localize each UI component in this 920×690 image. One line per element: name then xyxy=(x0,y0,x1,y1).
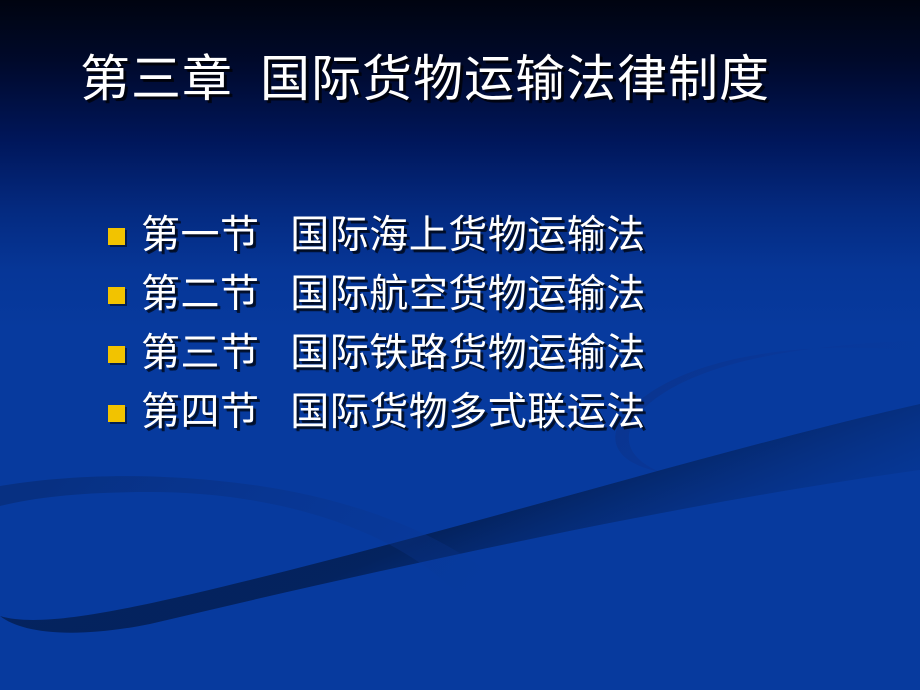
square-bullet-icon xyxy=(108,228,125,245)
square-bullet-icon xyxy=(108,405,125,422)
list-item[interactable]: 第四节 国际货物多式联运法 xyxy=(108,389,868,448)
swoosh-thin xyxy=(190,480,920,690)
list-item-label: 第一节 国际海上货物运输法 xyxy=(141,212,868,260)
list-item[interactable]: 第二节 国际航空货物运输法 xyxy=(108,271,868,330)
list-item[interactable]: 第三节 国际铁路货物运输法 xyxy=(108,330,868,389)
list-item-label: 第二节 国际航空货物运输法 xyxy=(141,271,868,319)
square-bullet-icon xyxy=(108,287,125,304)
swoosh-lower xyxy=(0,476,553,690)
presentation-slide: 第三章 国际货物运输法律制度 第一节 国际海上货物运输法 第二节 国际航空货物运… xyxy=(0,0,920,690)
square-bullet-icon xyxy=(108,346,125,363)
list-item-label: 第三节 国际铁路货物运输法 xyxy=(141,330,868,378)
bullet-list: 第一节 国际海上货物运输法 第二节 国际航空货物运输法 第三节 国际铁路货物运输… xyxy=(108,212,868,448)
list-item-label: 第四节 国际货物多式联运法 xyxy=(141,389,868,437)
list-item[interactable]: 第一节 国际海上货物运输法 xyxy=(108,212,868,271)
page-title: 第三章 国际货物运输法律制度 xyxy=(80,48,880,110)
